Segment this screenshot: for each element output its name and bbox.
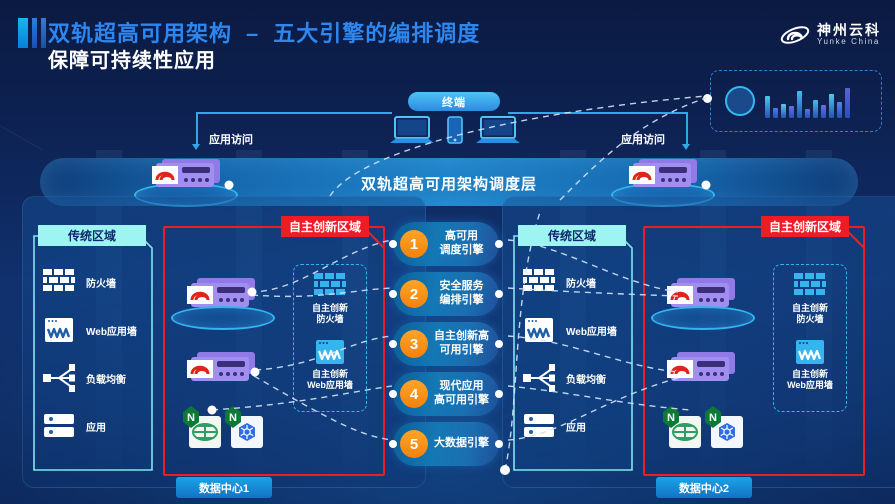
web-app-wall-icon xyxy=(522,315,556,345)
adc-appliance-icon xyxy=(181,350,255,384)
dc1-traditional-items: 防火墙 Web应用墙 xyxy=(42,258,146,450)
yunke-swirl-icon xyxy=(780,22,810,48)
firewall-brick-icon xyxy=(294,273,366,304)
access-arrow-right xyxy=(682,144,690,150)
engine-connector-dot-left xyxy=(389,340,397,348)
load-balance-icon xyxy=(42,363,76,393)
svg-text:N: N xyxy=(667,412,675,424)
engine-connector-dot-right xyxy=(495,240,503,248)
list-item-label: Web应用墙 xyxy=(566,323,617,338)
nginx-kubernetes-icon: N xyxy=(703,404,745,448)
web-app-wall-icon xyxy=(42,315,76,345)
title-accent-bars xyxy=(18,18,46,48)
web-app-wall-icon xyxy=(294,339,366,370)
dc1-innovation-subzone: 自主创新 防火墙 自主创新 Web应用墙 xyxy=(293,264,367,412)
svg-text:N: N xyxy=(187,412,195,424)
list-item: Web应用墙 xyxy=(42,306,146,354)
engine-item-5[interactable]: 5大数据引擎 xyxy=(393,422,499,466)
page-subtitle: 保障可持续性应用 xyxy=(48,44,216,73)
scheduling-appliance-left xyxy=(148,155,230,200)
engine-connector-dot-right xyxy=(495,290,503,298)
engine-item-1[interactable]: 1高可用调度引擎 xyxy=(393,222,499,266)
subzone-label-line1: 自主创新 xyxy=(312,303,348,313)
bar-chart-bar xyxy=(845,88,850,118)
engine-item-2[interactable]: 2安全服务编排引擎 xyxy=(393,272,499,316)
list-item: 防火墙 xyxy=(42,258,146,306)
subzone-label-line2: Web应用墙 xyxy=(307,380,353,390)
bigdata-connector-dot xyxy=(703,94,712,103)
list-item-label: 应用 xyxy=(566,419,586,434)
datacenter-1-badge: 数据中心1 xyxy=(176,477,272,498)
list-item: 防火墙 xyxy=(522,258,626,306)
engine-number-badge: 5 xyxy=(400,430,428,458)
dc1-traditional-zone: 传统区域 防火墙 xyxy=(30,226,156,476)
page-title-sub: 五大引擎的编排调度 xyxy=(273,21,480,46)
dc1-innovation-zone: 自主创新区域 xyxy=(163,226,385,476)
list-item: 负载均衡 xyxy=(42,354,146,402)
engine-connector-dot-left xyxy=(389,290,397,298)
subzone-label-line1: 自主创新 xyxy=(792,303,828,313)
datacenter-2-badge: 数据中心2 xyxy=(656,477,752,498)
web-app-wall-icon xyxy=(774,339,846,370)
company-logo: 神州云科 Yunke China xyxy=(780,22,881,48)
page-title-main: 双轨超高可用架构 xyxy=(48,21,232,46)
bar-chart-bar xyxy=(797,91,802,118)
list-item-label: 防火墙 xyxy=(566,275,596,290)
engine-label: 自主创新高可用引擎 xyxy=(428,330,499,358)
bar-chart-bar xyxy=(781,104,786,118)
laptop-icon xyxy=(390,116,434,146)
bar-chart-bar xyxy=(773,108,778,118)
dc2-innovation-zone: 自主创新区域 xyxy=(643,226,865,476)
device-platter xyxy=(171,306,275,330)
dc2-innovation-subzone: 自主创新 防火墙 自主创新 Web应用墙 xyxy=(773,264,847,412)
access-arrow-left xyxy=(192,144,200,150)
title-dash: – xyxy=(232,21,273,46)
application-server-icon xyxy=(42,411,76,441)
page-header: 双轨超高可用架构–五大引擎的编排调度 保障可持续性应用 神州云科 Yunke C… xyxy=(0,0,895,66)
engine-number-badge: 3 xyxy=(400,330,428,358)
adc-appliance-icon xyxy=(661,350,735,384)
access-line-left xyxy=(196,112,392,114)
engine-label: 大数据引擎 xyxy=(428,437,499,451)
bar-chart-bar xyxy=(813,100,818,118)
bar-chart-icon xyxy=(765,84,850,118)
phone-icon xyxy=(447,116,463,146)
dc2-traditional-zone: 传统区域 防火墙 xyxy=(510,226,636,476)
bar-chart-bar xyxy=(829,94,834,118)
architecture-diagram: 双轨超高可用架构–五大引擎的编排调度 保障可持续性应用 神州云科 Yunke C… xyxy=(0,0,895,504)
subzone-label-webwall: 自主创新 Web应用墙 xyxy=(774,369,846,391)
logo-text-cn: 神州云科 xyxy=(817,23,881,38)
engine-item-3[interactable]: 3自主创新高可用引擎 xyxy=(393,322,499,366)
nginx-kubernetes-icon: N xyxy=(223,404,265,448)
device-platter xyxy=(651,306,755,330)
nginx-container-icon: N xyxy=(661,404,703,448)
svg-text:N: N xyxy=(709,412,717,424)
adc-appliance-icon xyxy=(148,155,230,195)
engine-connector-dot-right xyxy=(495,340,503,348)
firewall-brick-icon xyxy=(522,267,556,297)
bar-chart-bar xyxy=(789,106,794,118)
list-item: 负载均衡 xyxy=(522,354,626,402)
access-label-right: 应用访问 xyxy=(614,130,672,148)
engine-number-badge: 4 xyxy=(400,380,428,408)
bar-chart-bar xyxy=(821,105,826,118)
list-item-label: 防火墙 xyxy=(86,275,116,290)
dc2-traditional-items: 防火墙 Web应用墙 xyxy=(522,258,626,450)
engine-list: 1高可用调度引擎2安全服务编排引擎3自主创新高可用引擎4现代应用高可用引擎5大数… xyxy=(393,222,503,472)
engine-connector-dot-left xyxy=(389,390,397,398)
engine-connector-dot-left xyxy=(389,440,397,448)
svg-text:N: N xyxy=(229,412,237,424)
dc1-traditional-title: 传统区域 xyxy=(38,225,146,246)
access-line-right xyxy=(508,112,688,114)
engine-label: 安全服务编排引擎 xyxy=(428,280,499,308)
subzone-label-line1: 自主创新 xyxy=(792,369,828,379)
dc1-innovation-title: 自主创新区域 xyxy=(281,216,369,237)
subzone-label-firewall: 自主创新 防火墙 xyxy=(774,303,846,325)
adc-appliance-icon xyxy=(181,276,255,310)
terminal-devices xyxy=(390,112,520,146)
subzone-label-line2: Web应用墙 xyxy=(787,380,833,390)
access-label-left: 应用访问 xyxy=(202,130,260,148)
bigdata-panel xyxy=(710,70,882,132)
access-line-right-down xyxy=(686,112,688,146)
dc2-innovation-title: 自主创新区域 xyxy=(761,216,849,237)
adc-appliance-icon xyxy=(661,276,735,310)
list-item-label: 负载均衡 xyxy=(566,371,606,386)
bar-chart-bar xyxy=(765,96,770,118)
list-item-label: 负载均衡 xyxy=(86,371,126,386)
laptop-icon xyxy=(476,116,520,146)
engine-item-4[interactable]: 4现代应用高可用引擎 xyxy=(393,372,499,416)
list-item: 应用 xyxy=(522,402,626,450)
list-item-label: Web应用墙 xyxy=(86,323,137,338)
subzone-label-line2: 防火墙 xyxy=(796,314,823,324)
adc-appliance-icon xyxy=(625,155,707,195)
engine-connector-dot-right xyxy=(495,390,503,398)
list-item: Web应用墙 xyxy=(522,306,626,354)
dc2-traditional-title: 传统区域 xyxy=(518,225,626,246)
engine-connector-dot-right xyxy=(495,440,503,448)
access-line-left-down xyxy=(196,112,198,146)
subzone-label-webwall: 自主创新 Web应用墙 xyxy=(294,369,366,391)
load-balance-icon xyxy=(522,363,556,393)
firewall-brick-icon xyxy=(42,267,76,297)
engine-label: 现代应用高可用引擎 xyxy=(428,380,499,408)
scheduling-appliance-right xyxy=(625,155,707,200)
subzone-label-firewall: 自主创新 防火墙 xyxy=(294,303,366,325)
firewall-brick-icon xyxy=(774,273,846,304)
logo-text-en: Yunke China xyxy=(817,38,881,46)
engine-label: 高可用调度引擎 xyxy=(428,230,499,258)
donut-chart-icon xyxy=(725,86,755,116)
nginx-container-icon: N xyxy=(181,404,223,448)
engine-number-badge: 2 xyxy=(400,280,428,308)
terminal-label: 终端 xyxy=(408,92,500,111)
bar-chart-bar xyxy=(837,102,842,118)
subzone-label-line2: 防火墙 xyxy=(316,314,343,324)
engine-number-badge: 1 xyxy=(400,230,428,258)
list-item: 应用 xyxy=(42,402,146,450)
engine-connector-dot-left xyxy=(389,240,397,248)
bar-chart-bar xyxy=(805,109,810,118)
subzone-label-line1: 自主创新 xyxy=(312,369,348,379)
application-server-icon xyxy=(522,411,556,441)
list-item-label: 应用 xyxy=(86,419,106,434)
